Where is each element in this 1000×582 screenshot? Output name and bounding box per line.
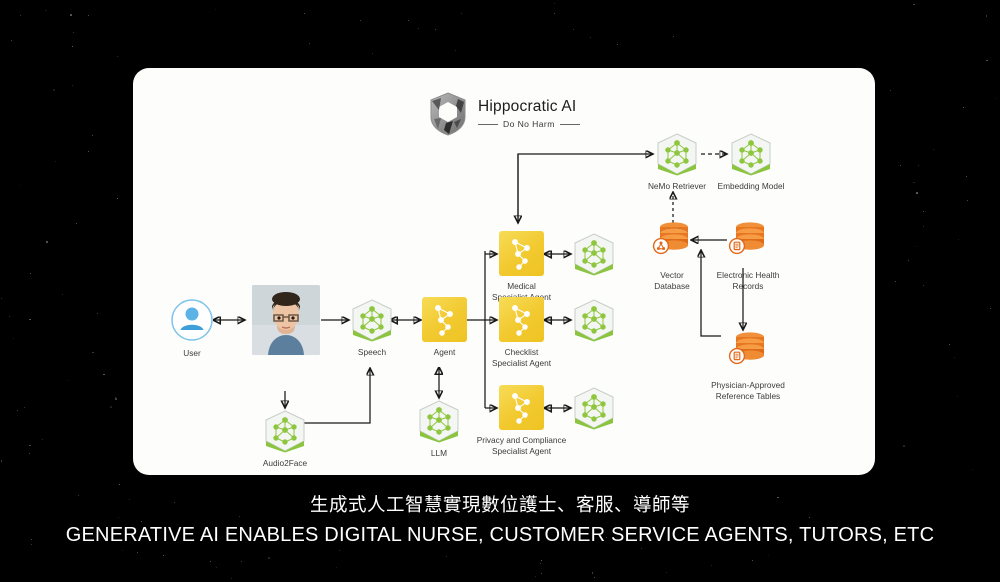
database-document-icon xyxy=(728,220,768,262)
star-speck xyxy=(73,32,74,33)
agent-square-icon xyxy=(499,231,544,276)
star-speck xyxy=(309,43,310,44)
star-speck xyxy=(923,211,924,212)
star-speck xyxy=(115,398,117,400)
user-circle-icon xyxy=(170,298,214,342)
star-speck xyxy=(117,198,118,199)
database-vector-icon xyxy=(652,220,692,262)
star-speck xyxy=(117,56,118,57)
star-speck xyxy=(137,552,138,553)
agent-square-icon xyxy=(422,297,467,342)
star-speck xyxy=(70,14,72,16)
star-speck xyxy=(42,439,43,440)
star-speck xyxy=(20,185,21,186)
star-speck xyxy=(916,246,917,247)
star-speck xyxy=(541,573,542,574)
star-speck xyxy=(963,107,964,108)
star-speck xyxy=(617,44,618,45)
node-checklist-llm[interactable] xyxy=(571,297,617,348)
star-speck xyxy=(216,567,217,568)
star-speck xyxy=(540,563,541,564)
node-medical-llm[interactable] xyxy=(571,231,617,282)
node-vector-database[interactable]: Vector Database xyxy=(652,220,692,267)
star-speck xyxy=(592,572,594,574)
cube-model-icon xyxy=(728,131,774,177)
star-speck xyxy=(908,260,909,261)
star-speck xyxy=(241,561,242,562)
star-speck xyxy=(210,561,212,563)
star-speck xyxy=(967,200,968,201)
star-speck xyxy=(115,397,116,398)
star-speck xyxy=(97,313,98,314)
screenshot-root: Hippocratic AI Do No Harm xyxy=(0,0,1000,582)
star-speck xyxy=(641,548,642,549)
star-speck xyxy=(1,460,3,462)
node-electronic-health-records[interactable]: Electronic Health Records xyxy=(728,220,768,267)
cube-model-icon xyxy=(571,385,617,431)
node-embedding-model-label: Embedding Model xyxy=(718,181,785,192)
node-user-label: User xyxy=(183,348,201,359)
node-checklist-label-line1: Checklist xyxy=(505,347,539,358)
star-speck xyxy=(916,192,918,194)
database-document-icon xyxy=(728,330,768,372)
star-speck xyxy=(29,453,30,454)
star-speck xyxy=(372,53,373,54)
node-ehr-label-line2: Records xyxy=(733,281,764,292)
node-digital-nurse-avatar[interactable] xyxy=(252,285,320,355)
node-physician-approved-reference-tables[interactable]: Physician-Approved Reference Tables xyxy=(728,330,768,377)
node-agent[interactable]: Agent xyxy=(422,297,467,342)
star-speck xyxy=(590,37,591,38)
agent-square-icon xyxy=(499,297,544,342)
star-speck xyxy=(231,578,232,579)
star-speck xyxy=(594,577,595,578)
node-llm-label: LLM xyxy=(431,448,447,459)
star-speck xyxy=(986,60,988,62)
node-reference-tables-label-line1: Physician-Approved xyxy=(711,380,785,391)
star-speck xyxy=(711,565,712,566)
node-privacy-label-line1: Privacy and Compliance xyxy=(477,435,566,446)
star-speck xyxy=(103,374,105,376)
star-speck xyxy=(122,550,123,551)
node-speech-label: Speech xyxy=(358,347,386,358)
star-speck xyxy=(768,555,769,556)
star-speck xyxy=(163,555,164,556)
star-speck xyxy=(62,294,63,295)
star-speck xyxy=(72,85,73,86)
star-speck xyxy=(990,308,991,309)
star-speck xyxy=(933,149,934,150)
star-speck xyxy=(24,407,25,408)
star-speck xyxy=(535,576,536,577)
node-user[interactable]: User xyxy=(170,298,214,347)
star-speck xyxy=(966,176,967,177)
star-speck xyxy=(92,352,94,354)
star-speck xyxy=(913,4,915,6)
star-speck xyxy=(900,165,901,166)
star-speck xyxy=(923,226,924,227)
caption-english: GENERATIVE AI ENABLES DIGITAL NURSE, CUS… xyxy=(0,524,1000,547)
star-speck xyxy=(923,285,924,286)
star-speck xyxy=(1,298,2,299)
star-speck xyxy=(913,182,915,184)
node-privacy-compliance-specialist-agent[interactable]: Privacy and Compliance Specialist Agent xyxy=(499,385,544,430)
node-audio2face-label: Audio2Face xyxy=(263,458,307,469)
star-speck xyxy=(55,161,56,162)
node-audio2face[interactable]: Audio2Face xyxy=(262,408,308,459)
star-speck xyxy=(954,357,955,358)
node-speech[interactable]: Speech xyxy=(349,297,395,348)
cube-model-icon xyxy=(571,297,617,343)
star-speck xyxy=(573,29,574,30)
star-speck xyxy=(88,151,89,152)
star-speck xyxy=(958,239,959,240)
node-privacy-llm[interactable] xyxy=(571,385,617,436)
cube-model-icon xyxy=(571,231,617,277)
caption-chinese: 生成式人工智慧實現數位護士、客服、導師等 xyxy=(0,491,1000,517)
node-privacy-label-line2: Specialist Agent xyxy=(492,446,551,457)
star-speck xyxy=(554,13,555,14)
star-speck xyxy=(17,410,18,411)
star-speck xyxy=(995,98,996,99)
star-speck xyxy=(666,572,667,573)
diagram-card: Hippocratic AI Do No Harm xyxy=(133,68,875,475)
star-speck xyxy=(29,445,31,447)
node-nemo-retriever[interactable]: NeMo Retriever xyxy=(654,131,700,182)
star-speck xyxy=(53,89,55,91)
star-speck xyxy=(461,13,462,14)
star-speck xyxy=(92,135,93,136)
node-ehr-label-line1: Electronic Health xyxy=(717,270,780,281)
node-agent-label: Agent xyxy=(434,347,456,358)
star-speck xyxy=(554,3,555,4)
star-speck xyxy=(13,338,14,339)
star-speck xyxy=(541,560,542,561)
node-medical-specialist-agent[interactable]: Medical Specialist Agent xyxy=(499,231,544,276)
star-speck xyxy=(30,273,31,274)
star-speck xyxy=(673,36,674,37)
star-speck xyxy=(88,15,89,16)
star-speck xyxy=(455,50,456,51)
star-speck xyxy=(903,445,905,447)
star-speck xyxy=(119,484,120,485)
star-speck xyxy=(20,15,21,16)
star-speck xyxy=(45,10,47,12)
star-speck xyxy=(435,29,436,30)
star-speck xyxy=(268,557,270,559)
star-speck xyxy=(890,90,891,91)
node-reference-tables-label-line2: Reference Tables xyxy=(716,391,780,402)
digital-nurse-avatar xyxy=(252,285,320,355)
star-speck xyxy=(68,380,69,381)
star-speck xyxy=(76,223,77,224)
star-speck xyxy=(141,521,142,522)
node-checklist-label-line2: Specialist Agent xyxy=(492,358,551,369)
cube-model-icon xyxy=(262,408,308,454)
star-speck xyxy=(957,396,958,397)
star-speck xyxy=(895,281,896,282)
node-embedding-model[interactable]: Embedding Model xyxy=(728,131,774,182)
cube-model-icon xyxy=(349,297,395,343)
star-speck xyxy=(986,15,988,17)
star-speck xyxy=(29,319,31,321)
node-llm[interactable]: LLM xyxy=(416,398,462,449)
agent-square-icon xyxy=(499,385,544,430)
star-speck xyxy=(336,567,337,568)
star-speck xyxy=(408,20,409,21)
star-speck xyxy=(9,316,10,317)
star-speck xyxy=(304,13,305,14)
node-vector-database-label-line1: Vector xyxy=(660,270,684,281)
node-nemo-retriever-label: NeMo Retriever xyxy=(648,181,706,192)
star-speck xyxy=(46,241,48,243)
node-vector-database-label-line2: Database xyxy=(654,281,690,292)
star-speck xyxy=(360,20,361,21)
cube-model-icon xyxy=(654,131,700,177)
star-speck xyxy=(972,469,973,470)
star-speck xyxy=(752,560,753,561)
star-speck xyxy=(339,550,340,551)
node-checklist-specialist-agent[interactable]: Checklist Specialist Agent xyxy=(499,297,544,342)
cube-model-icon xyxy=(416,398,462,444)
node-medical-label-line1: Medical xyxy=(507,281,536,292)
star-speck xyxy=(215,9,216,10)
star-speck xyxy=(918,165,919,166)
star-speck xyxy=(949,344,950,345)
star-speck xyxy=(110,406,112,408)
star-speck xyxy=(11,40,12,41)
star-speck xyxy=(446,556,447,557)
star-speck xyxy=(418,28,419,29)
star-speck xyxy=(72,46,73,47)
